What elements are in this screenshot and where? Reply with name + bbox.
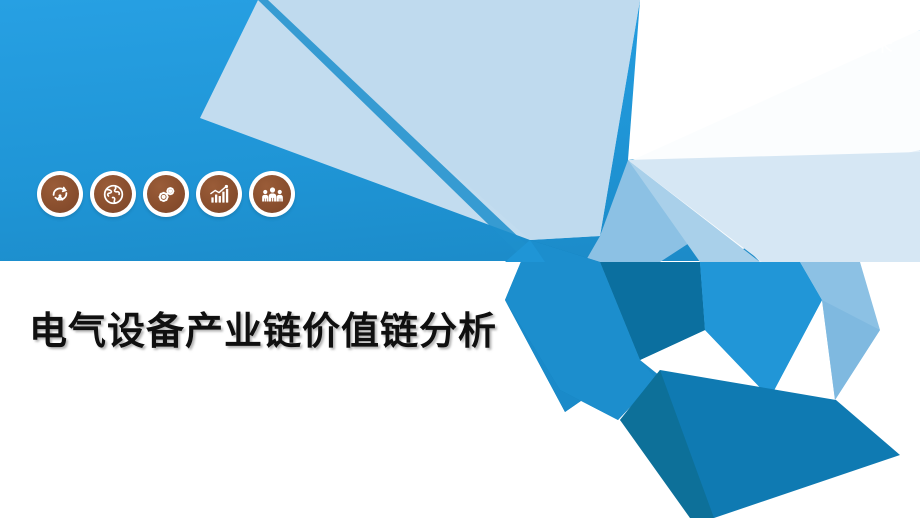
icon-badge-bar-chart[interactable]: [196, 171, 242, 217]
people-group-icon: [253, 175, 291, 213]
recycle-growth-icon: [41, 175, 79, 213]
bar-chart-icon: [200, 175, 238, 213]
icon-row: [37, 171, 295, 217]
low-poly-background-artwork: [0, 0, 920, 518]
slide-canvas: 数智创新 变革未来: [0, 0, 920, 518]
icon-badge-recycle-growth[interactable]: [37, 171, 83, 217]
tagline-text: 数智创新 变革未来: [711, 28, 894, 58]
page-title: 电气设备产业链价值链分析: [29, 300, 497, 355]
gears-icon: [147, 175, 185, 213]
icon-badge-globe[interactable]: [90, 171, 136, 217]
poly-lower-mid-blue2: [700, 262, 822, 398]
icon-badge-gears[interactable]: [143, 171, 189, 217]
globe-icon: [94, 175, 132, 213]
icon-badge-people-group[interactable]: [249, 171, 295, 217]
